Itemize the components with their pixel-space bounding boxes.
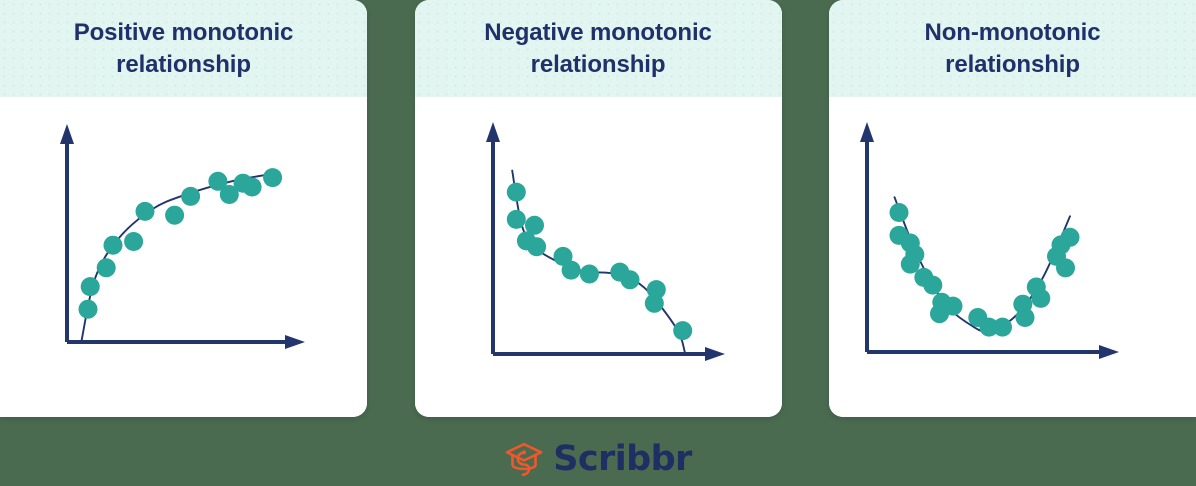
- card-non-monotonic: Non-monotonic relationship: [829, 0, 1196, 417]
- data-point: [81, 277, 100, 296]
- data-point: [527, 237, 546, 256]
- data-point: [1016, 308, 1035, 327]
- data-point: [104, 236, 123, 255]
- chart-positive-monotonic: [0, 97, 367, 417]
- data-point: [243, 178, 262, 197]
- data-point: [1056, 258, 1075, 277]
- data-point: [561, 261, 580, 280]
- graduation-cap-icon: [504, 441, 544, 478]
- data-point: [644, 294, 663, 313]
- data-point: [136, 202, 155, 221]
- data-point: [944, 297, 963, 316]
- data-point: [97, 258, 116, 277]
- data-point: [79, 300, 98, 319]
- fit-curve-0: [81, 174, 273, 343]
- data-point: [124, 232, 143, 251]
- data-point: [890, 203, 909, 222]
- data-point: [165, 206, 184, 225]
- card-body-negative: [415, 97, 782, 417]
- fit-curve-1: [512, 171, 685, 352]
- brand-logo[interactable]: Scribbr: [0, 432, 1196, 486]
- card-title-non-monotonic: Non-monotonic relationship: [925, 17, 1101, 80]
- card-body-non-monotonic: [829, 97, 1196, 417]
- card-header-positive: Positive monotonic relationship: [0, 0, 367, 97]
- brand-name: Scribbr: [553, 442, 691, 477]
- card-header-negative: Negative monotonic relationship: [415, 0, 782, 97]
- data-point: [579, 265, 598, 284]
- scatter-points-positive: [79, 168, 283, 319]
- card-title-positive: Positive monotonic relationship: [74, 17, 294, 80]
- data-point: [506, 210, 525, 229]
- data-point: [993, 318, 1012, 337]
- card-positive-monotonic: Positive monotonic relationship: [0, 0, 367, 417]
- data-point: [1061, 228, 1080, 247]
- data-point: [620, 270, 639, 289]
- card-negative-monotonic: Negative monotonic relationship: [415, 0, 782, 417]
- data-point: [1031, 289, 1050, 308]
- data-point: [263, 168, 282, 187]
- scatter-points-negative: [506, 183, 691, 341]
- card-row: Positive monotonic relationship: [0, 0, 1196, 420]
- card-title-negative: Negative monotonic relationship: [484, 17, 712, 80]
- card-body-positive: [0, 97, 367, 417]
- data-point: [506, 183, 525, 202]
- data-point: [673, 321, 692, 340]
- chart-negative-monotonic: [415, 97, 782, 417]
- infographic-root: Positive monotonic relationship: [0, 0, 1196, 486]
- chart-non-monotonic: [829, 97, 1196, 417]
- data-point: [923, 276, 942, 295]
- data-point: [901, 255, 920, 274]
- data-point: [181, 187, 200, 206]
- scatter-points-non-monotonic: [890, 203, 1080, 337]
- chart-axes-positive: [60, 124, 305, 349]
- card-header-non-monotonic: Non-monotonic relationship: [829, 0, 1196, 97]
